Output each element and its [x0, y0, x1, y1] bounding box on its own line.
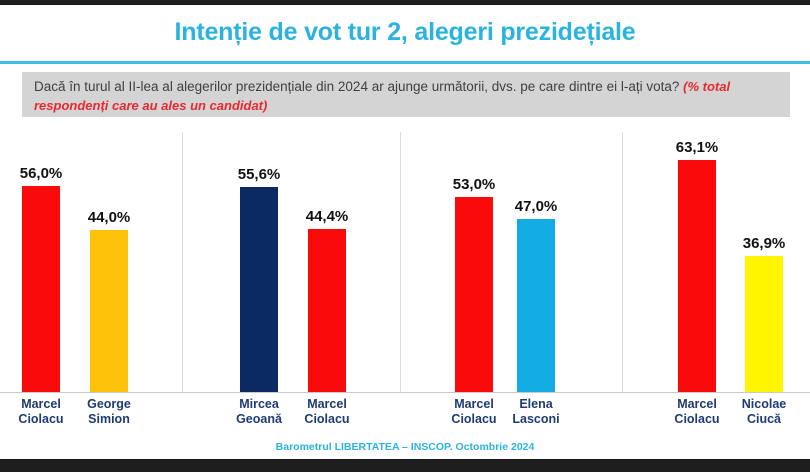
bar-4-1: [678, 160, 716, 392]
bottom-letterbox-bar: [0, 459, 810, 472]
page-title: Intenție de vot tur 2, alegeri prezideți…: [0, 18, 810, 47]
category-label-1-2: GeorgeSimion: [59, 397, 159, 427]
bar-value-label-2-1: 55,6%: [238, 166, 281, 183]
bar-value-label-1-2: 44,0%: [88, 209, 131, 226]
bar-1-1: [22, 186, 60, 392]
bar-3-1: [455, 197, 493, 392]
category-label-4-2: NicolaeCiucă: [714, 397, 810, 427]
category-label-last-name: Ciolacu: [277, 412, 377, 427]
bar-value-label-4-2: 36,9%: [743, 235, 786, 252]
question-box: Dacă în turul al II-lea al alegerilor pr…: [22, 72, 790, 117]
category-label-last-name: Ciucă: [714, 412, 810, 427]
category-label-first-name: George: [59, 397, 159, 412]
title-divider-rule: [0, 61, 810, 64]
chart-page: Intenție de vot tur 2, alegeri prezideți…: [0, 0, 810, 472]
bar-2-1: [240, 187, 278, 392]
bar-value-label-3-1: 53,0%: [453, 176, 496, 193]
category-label-first-name: Marcel: [277, 397, 377, 412]
footer-source: Barometrul LIBERTATEA – INSCOP. Octombri…: [0, 441, 810, 453]
bar-2-2: [308, 229, 346, 392]
chart-baseline: [0, 392, 810, 393]
category-label-last-name: Simion: [59, 412, 159, 427]
bar-1-2: [90, 230, 128, 392]
bar-value-label-1-1: 56,0%: [20, 165, 63, 182]
group-divider-3: [622, 132, 623, 392]
category-label-2-2: MarcelCiolacu: [277, 397, 377, 427]
bar-value-label-4-1: 63,1%: [676, 139, 719, 156]
category-label-first-name: Elena: [486, 397, 586, 412]
question-main: Dacă în turul al II-lea al alegerilor pr…: [34, 79, 683, 94]
bar-3-2: [517, 219, 555, 392]
category-label-3-2: ElenaLasconi: [486, 397, 586, 427]
category-label-first-name: Nicolae: [714, 397, 810, 412]
category-label-last-name: Lasconi: [486, 412, 586, 427]
group-divider-2: [400, 132, 401, 392]
bar-value-label-2-2: 44,4%: [306, 208, 349, 225]
bar-value-label-3-2: 47,0%: [515, 198, 558, 215]
bar-4-2: [745, 256, 783, 392]
group-divider-1: [182, 132, 183, 392]
top-letterbox-bar: [0, 0, 810, 5]
question-text: Dacă în turul al II-lea al alegerilor pr…: [34, 77, 778, 115]
